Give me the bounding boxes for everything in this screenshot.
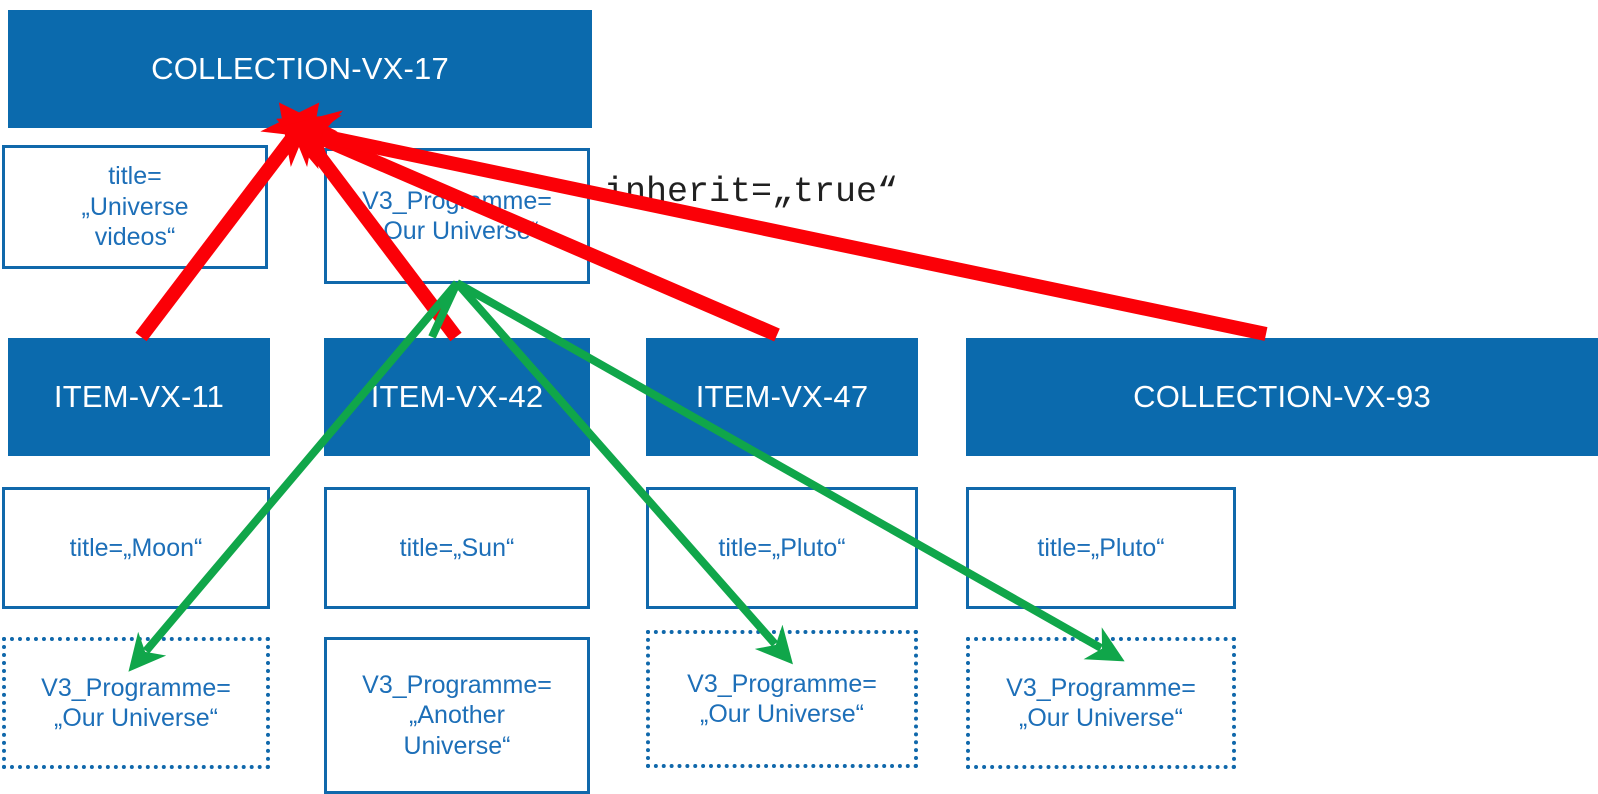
attribute-label: V3_Programme= „Our Universe“	[41, 673, 231, 734]
attribute-title-moon[interactable]: title=„Moon“	[2, 487, 270, 609]
entity-item-vx-11[interactable]: ITEM-VX-11	[8, 338, 270, 456]
entity-item-vx-42[interactable]: ITEM-VX-42	[324, 338, 590, 456]
entity-item-vx-47[interactable]: ITEM-VX-47	[646, 338, 918, 456]
attribute-label: V3_Programme= „Our Universe“	[362, 186, 552, 247]
attribute-universe-videos[interactable]: title= „Universe videos“	[2, 145, 268, 269]
entity-label: COLLECTION-VX-93	[1133, 379, 1431, 415]
attribute-title-sun[interactable]: title=„Sun“	[324, 487, 590, 609]
entity-label: COLLECTION-VX-17	[151, 51, 449, 87]
attribute-label: title=„Sun“	[400, 533, 515, 564]
entity-label: ITEM-VX-11	[54, 379, 224, 415]
attribute-programme-another-universe[interactable]: V3_Programme= „Another Universe“	[324, 637, 590, 794]
programme-edge-to-item-vx-42	[432, 283, 457, 337]
entity-collection-vx-17[interactable]: COLLECTION-VX-17	[8, 10, 592, 128]
programme-edges	[146, 283, 1101, 651]
entity-collection-vx-93[interactable]: COLLECTION-VX-93	[966, 338, 1598, 456]
entity-label: ITEM-VX-47	[696, 379, 869, 415]
attribute-label: title=„Moon“	[70, 533, 203, 564]
attribute-label: title=„Pluto“	[1037, 533, 1164, 564]
attribute-label: V3_Programme= „Another Universe“	[362, 670, 552, 762]
attribute-programme-our-universe-top[interactable]: V3_Programme= „Our Universe“	[324, 148, 590, 284]
attribute-programme-inherited-pluto-93[interactable]: V3_Programme= „Our Universe“	[966, 637, 1236, 769]
attribute-title-pluto-collection-93[interactable]: title=„Pluto“	[966, 487, 1236, 609]
attribute-label: V3_Programme= „Our Universe“	[687, 669, 877, 730]
diagram-canvas: COLLECTION-VX-17 ITEM-VX-11 ITEM-VX-42 I…	[0, 0, 1598, 794]
inherit-true-label: inherit=„true“	[604, 172, 898, 212]
attribute-programme-inherited-moon[interactable]: V3_Programme= „Our Universe“	[2, 637, 270, 769]
attribute-programme-inherited-pluto-47[interactable]: V3_Programme= „Our Universe“	[646, 630, 918, 768]
attribute-title-pluto-item-47[interactable]: title=„Pluto“	[646, 487, 918, 609]
entity-label: ITEM-VX-42	[371, 379, 544, 415]
attribute-label: title= „Universe videos“	[82, 161, 189, 253]
attribute-label: title=„Pluto“	[718, 533, 845, 564]
attribute-label: V3_Programme= „Our Universe“	[1006, 673, 1196, 734]
inherit-edges	[141, 136, 1266, 337]
